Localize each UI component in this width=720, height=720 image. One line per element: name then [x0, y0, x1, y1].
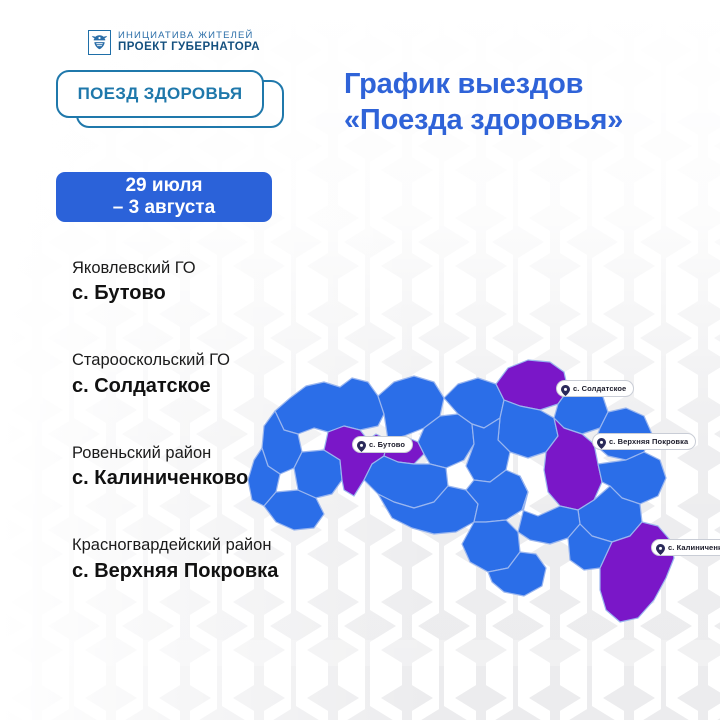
date-range-badge: 29 июля – 3 августа: [56, 172, 272, 222]
badge-frame: ПОЕЗД ЗДОРОВЬЯ: [56, 70, 264, 118]
list-item-settlement: с. Солдатское: [72, 373, 372, 399]
logo-line-initiative: ИНИЦИАТИВА ЖИТЕЛЕЙ: [118, 31, 260, 41]
list-item-district: Красногвардейский район: [72, 535, 372, 556]
map-marker-kalinichenkovo[interactable]: с. Калиниченково: [651, 539, 720, 556]
map-pin-icon: [597, 436, 606, 447]
map-pin-icon: [656, 542, 665, 553]
list-item-settlement: с. Бутово: [72, 280, 372, 306]
badge-label: ПОЕЗД ЗДОРОВЬЯ: [78, 84, 243, 104]
list-item: Старооскольский ГО с. Солдатское: [72, 350, 372, 398]
map-pin-icon: [561, 383, 570, 394]
list-item: Ровеньский район с. Калиниченково: [72, 443, 372, 491]
map-marker-verkhnyaya-pokrovka[interactable]: с. Верхняя Покровка: [592, 433, 696, 450]
list-item-district: Ровеньский район: [72, 443, 372, 464]
schedule-list: Яковлевский ГО с. Бутово Старооскольский…: [72, 258, 372, 584]
page-title: График выездов «Поезда здоровья»: [344, 67, 694, 139]
eagle-emblem-icon: [88, 30, 111, 55]
list-item: Яковлевский ГО с. Бутово: [72, 258, 372, 306]
page-title-line-1: График выездов: [344, 67, 694, 103]
list-item-district: Старооскольский ГО: [72, 350, 372, 371]
gov-project-logo: ИНИЦИАТИВА ЖИТЕЛЕЙ ПРОЕКТ ГУБЕРНАТОРА: [88, 30, 260, 55]
map-marker-label: с. Бутово: [369, 441, 405, 449]
map-marker-label: с. Калиниченково: [668, 544, 720, 552]
map-marker-soldatskoye[interactable]: с. Солдатское: [556, 380, 634, 397]
date-range-line-1: 29 июля: [125, 175, 202, 197]
date-range-line-2: – 3 августа: [113, 197, 215, 219]
logo-line-governor: ПРОЕКТ ГУБЕРНАТОРА: [118, 41, 260, 53]
list-item: Красногвардейский район с. Верхняя Покро…: [72, 535, 372, 583]
page-title-line-2: «Поезда здоровья»: [344, 103, 694, 139]
map-marker-label: с. Верхняя Покровка: [609, 438, 688, 446]
list-item-district: Яковлевский ГО: [72, 258, 372, 279]
infographic-page: ИНИЦИАТИВА ЖИТЕЛЕЙ ПРОЕКТ ГУБЕРНАТОРА ПО…: [0, 0, 720, 720]
map-marker-label: с. Солдатское: [573, 385, 626, 393]
list-item-settlement: с. Калиниченково: [72, 465, 372, 491]
list-item-settlement: с. Верхняя Покровка: [72, 558, 372, 584]
brand-badge: ПОЕЗД ЗДОРОВЬЯ: [54, 68, 286, 130]
